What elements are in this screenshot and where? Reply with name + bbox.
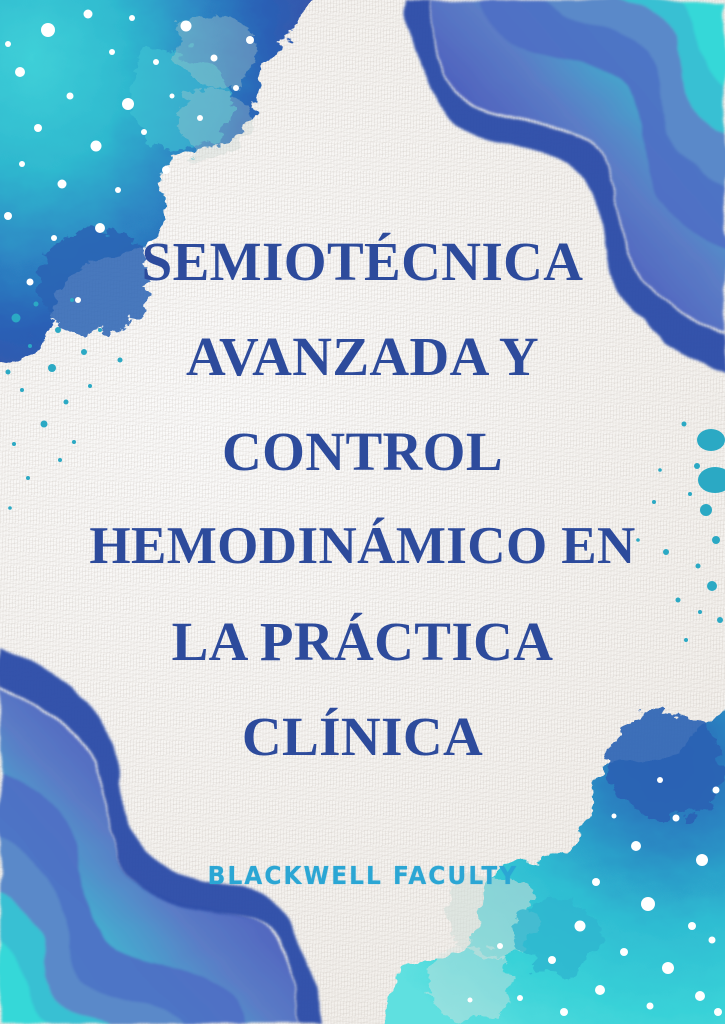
title-line-4: HEMODINÁMICO EN (38, 499, 687, 594)
title-line-1: SEMIOTÉCNICA (38, 214, 687, 309)
title-line-2: AVANZADA Y (38, 309, 687, 404)
book-cover: SEMIOTÉCNICA AVANZADA Y CONTROL HEMODINÁ… (0, 0, 725, 1024)
title-line-6: CLÍNICA (38, 689, 687, 784)
cover-title: SEMIOTÉCNICA AVANZADA Y CONTROL HEMODINÁ… (0, 214, 725, 784)
cover-author: BLACKWELL FACULTY (207, 861, 517, 890)
cover-text-layer: SEMIOTÉCNICA AVANZADA Y CONTROL HEMODINÁ… (0, 0, 725, 1024)
title-line-5: LA PRÁCTICA (38, 594, 687, 689)
title-line-3: CONTROL (38, 404, 687, 499)
